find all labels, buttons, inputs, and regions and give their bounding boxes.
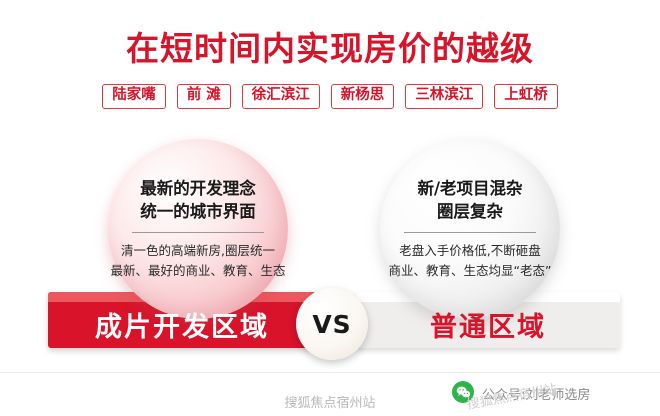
left-sphere-heading: 最新的开发理念 统一的城市界面	[140, 178, 256, 224]
right-heading-line-2: 圈层复杂	[417, 201, 522, 224]
right-body-line-1: 老盘入手价格低,不断砸盘	[389, 241, 552, 260]
left-body-line-2: 最新、最好的商业、教育、生态	[110, 261, 285, 280]
district-tag-sanlinbinjiang[interactable]: 三林滨江	[405, 84, 483, 109]
right-body-line-2: 商业、教育、生态均显“老态”	[389, 261, 552, 280]
page-title: 在短时间内实现房价的越级	[0, 22, 660, 70]
right-sphere-heading: 新/老项目混杂 圈层复杂	[417, 178, 522, 224]
right-sphere: 新/老项目混杂 圈层复杂 老盘入手价格低,不断砸盘 商业、教育、生态均显“老态”	[380, 139, 560, 319]
district-tag-xinyangsi[interactable]: 新杨思	[331, 84, 395, 109]
right-heading-line-1: 新/老项目混杂	[417, 178, 522, 201]
left-heading-line-2: 统一的城市界面	[140, 201, 256, 224]
district-tag-qiantan[interactable]: 前 滩	[177, 84, 231, 109]
left-sphere: 最新的开发理念 统一的城市界面 清一色的高端新房,圈层统一 最新、最好的商业、教…	[108, 139, 288, 319]
left-body-line-1: 清一色的高端新房,圈层统一	[110, 241, 285, 260]
versus-badge: VS	[296, 288, 368, 360]
left-panel-label: 成片开发区域	[48, 300, 316, 348]
right-sphere-body: 老盘入手价格低,不断砸盘 商业、教育、生态均显“老态”	[389, 241, 552, 280]
district-tag-row: 陆家嘴 前 滩 徐汇滨江 新杨思 三林滨江 上虹桥	[0, 84, 660, 109]
district-tag-xuhuibinjiang[interactable]: 徐汇滨江	[242, 84, 320, 109]
infographic-canvas: 在短时间内实现房价的越级 陆家嘴 前 滩 徐汇滨江 新杨思 三林滨江 上虹桥 最…	[0, 0, 660, 415]
left-sphere-body: 清一色的高端新房,圈层统一 最新、最好的商业、教育、生态	[110, 241, 285, 280]
district-tag-shanghongqiao[interactable]: 上虹桥	[494, 84, 558, 109]
right-panel-label: 普通区域	[356, 300, 620, 348]
left-divider	[132, 232, 264, 233]
district-tag-lujiazui[interactable]: 陆家嘴	[102, 84, 166, 109]
wechat-account-text: 公众号:刘老师选房	[482, 384, 590, 403]
right-divider	[404, 232, 536, 233]
left-heading-line-1: 最新的开发理念	[140, 178, 256, 201]
wechat-icon	[452, 381, 474, 403]
